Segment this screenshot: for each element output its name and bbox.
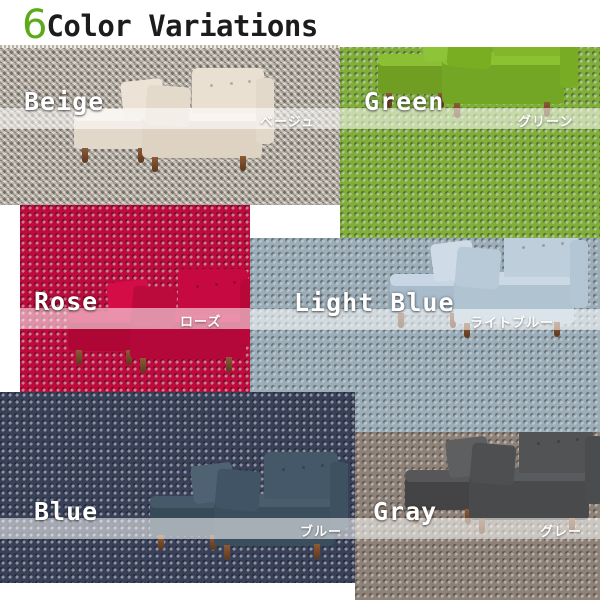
color-name-gray: Gray <box>373 497 437 526</box>
color-name-jp-lightblue: ライトブルー <box>470 312 554 331</box>
swatch-panel-rose[interactable]: Rose ローズ <box>20 205 250 392</box>
color-name-jp-green: グリーン <box>518 111 573 130</box>
color-name-beige: Beige <box>24 87 104 116</box>
variation-count: 6 <box>22 2 46 48</box>
sofa-blue <box>140 450 350 570</box>
swatch-panel-beige[interactable]: Beige ベージュ <box>0 47 340 205</box>
color-name-lightblue: Light Blue <box>294 288 455 317</box>
page-title: 6Color Variations <box>22 2 318 48</box>
color-variations-poster: 6Color Variations <box>0 0 600 600</box>
color-name-rose: Rose <box>34 287 98 316</box>
color-name-blue: Blue <box>34 497 98 526</box>
swatch-panel-blue[interactable]: Blue ブルー <box>0 392 355 583</box>
color-name-jp-beige: ベージュ <box>260 111 315 130</box>
color-name-green: Green <box>364 87 444 116</box>
swatch-panel-gray[interactable]: Gray グレー <box>355 432 600 600</box>
title-text: Color Variations <box>46 9 317 43</box>
color-name-jp-rose: ローズ <box>180 311 221 330</box>
swatch-panel-green[interactable]: Green グリーン <box>340 30 600 238</box>
header-divider <box>0 45 340 48</box>
color-name-jp-blue: ブルー <box>300 521 342 540</box>
color-name-jp-gray: グレー <box>540 521 582 540</box>
poster-header: 6Color Variations <box>0 0 600 47</box>
